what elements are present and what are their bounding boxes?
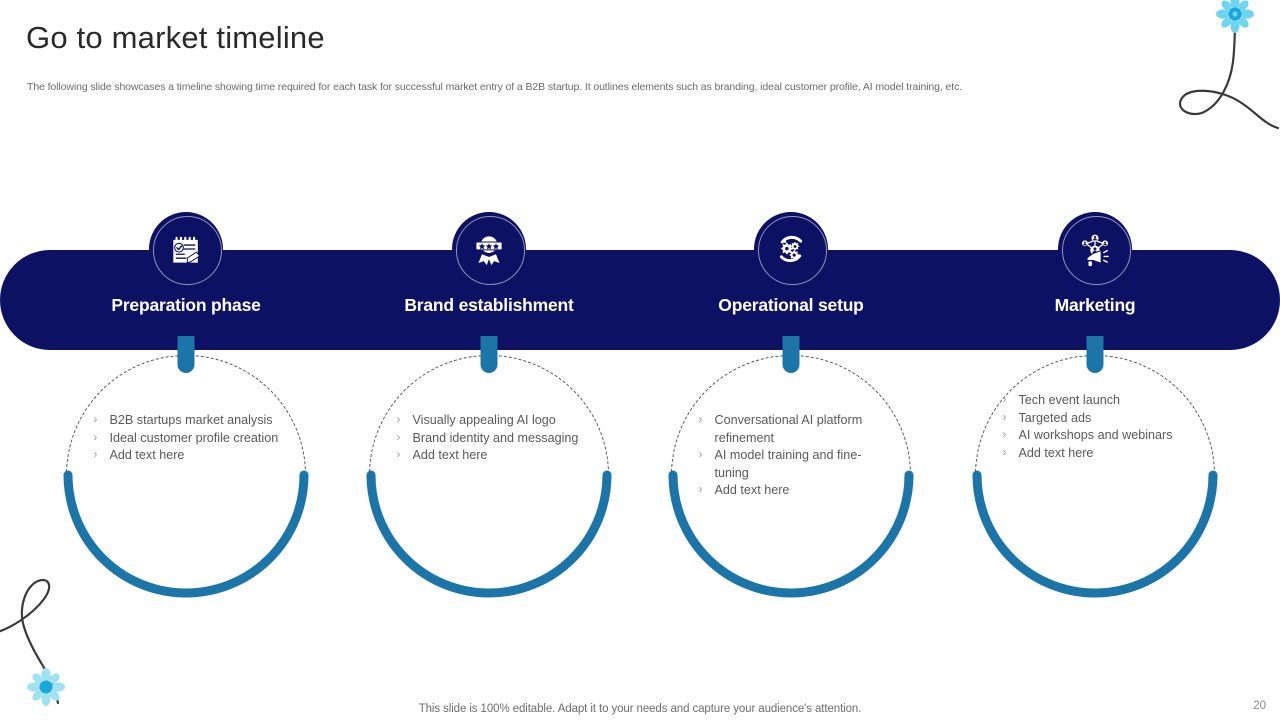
phase-bullet-list: › Tech event launch › Targeted ads › AI … — [1003, 392, 1188, 462]
chevron-right-icon: › — [397, 430, 413, 448]
chevron-right-icon: › — [699, 447, 715, 465]
chevron-right-icon: › — [397, 447, 413, 465]
blue-arc — [62, 351, 310, 599]
award-ribbon-stars-icon — [468, 228, 510, 270]
megaphone-network-icon — [1074, 228, 1116, 270]
list-item: › AI workshops and webinars — [1003, 427, 1188, 445]
chevron-right-icon: › — [94, 447, 110, 465]
phase-icon-badge — [754, 212, 828, 286]
phase-column-operational-setup[interactable]: Operational setup › Conversational AI pl… — [641, 0, 941, 720]
phase-column-preparation[interactable]: Preparation phase › B2B startups market … — [36, 0, 336, 720]
phase-title: Brand establishment — [339, 295, 639, 316]
notepad-checklist-pen-icon — [165, 228, 207, 270]
phase-column-marketing[interactable]: Marketing › Tech event launch › Targeted… — [945, 0, 1245, 720]
phase-title: Operational setup — [641, 295, 941, 316]
chevron-right-icon: › — [397, 412, 413, 430]
phase-connector-stem — [783, 336, 800, 373]
phase-title: Marketing — [945, 295, 1245, 316]
footer-note: This slide is 100% editable. Adapt it to… — [0, 703, 1280, 715]
list-item: › Add text here — [699, 482, 884, 500]
chevron-right-icon: › — [94, 430, 110, 448]
chevron-right-icon: › — [699, 412, 715, 430]
phase-bullet-list: › Conversational AI platform refinement … — [699, 412, 884, 500]
phase-connector-stem — [481, 336, 498, 373]
chevron-right-icon: › — [699, 482, 715, 500]
blue-arc — [971, 351, 1219, 599]
phase-detail-circle — [975, 355, 1215, 595]
gears-cycle-arrows-icon — [770, 228, 812, 270]
page-number: 20 — [1253, 700, 1266, 712]
chevron-right-icon: › — [1003, 410, 1019, 428]
list-item: › B2B startups market analysis — [94, 412, 279, 430]
phase-detail-circle — [369, 355, 609, 595]
phase-detail-circle — [66, 355, 306, 595]
list-item: › Tech event launch — [1003, 392, 1188, 410]
list-item: › AI model training and fine-tuning — [699, 447, 884, 482]
list-item: › Visually appealing AI logo — [397, 412, 582, 430]
slide-canvas: Go to market timeline The following slid… — [0, 0, 1280, 720]
phase-icon-badge — [1058, 212, 1132, 286]
list-item: › Add text here — [1003, 445, 1188, 463]
chevron-right-icon: › — [1003, 392, 1019, 410]
chevron-right-icon: › — [94, 412, 110, 430]
list-item: › Add text here — [94, 447, 279, 465]
list-item: › Ideal customer profile creation — [94, 430, 279, 448]
phase-icon-badge — [149, 212, 223, 286]
chevron-right-icon: › — [1003, 427, 1019, 445]
phase-connector-stem — [1087, 336, 1104, 373]
phase-column-brand-establishment[interactable]: Brand establishment › Visually appealing… — [339, 0, 639, 720]
list-item: › Conversational AI platform refinement — [699, 412, 884, 447]
phase-bullet-list: › B2B startups market analysis › Ideal c… — [94, 412, 279, 465]
phase-icon-badge — [452, 212, 526, 286]
phase-bullet-list: › Visually appealing AI logo › Brand ide… — [397, 412, 582, 465]
chevron-right-icon: › — [1003, 445, 1019, 463]
phase-title: Preparation phase — [36, 295, 336, 316]
phase-connector-stem — [178, 336, 195, 373]
list-item: › Add text here — [397, 447, 582, 465]
list-item: › Brand identity and messaging — [397, 430, 582, 448]
list-item: › Targeted ads — [1003, 410, 1188, 428]
blue-arc — [365, 351, 613, 599]
